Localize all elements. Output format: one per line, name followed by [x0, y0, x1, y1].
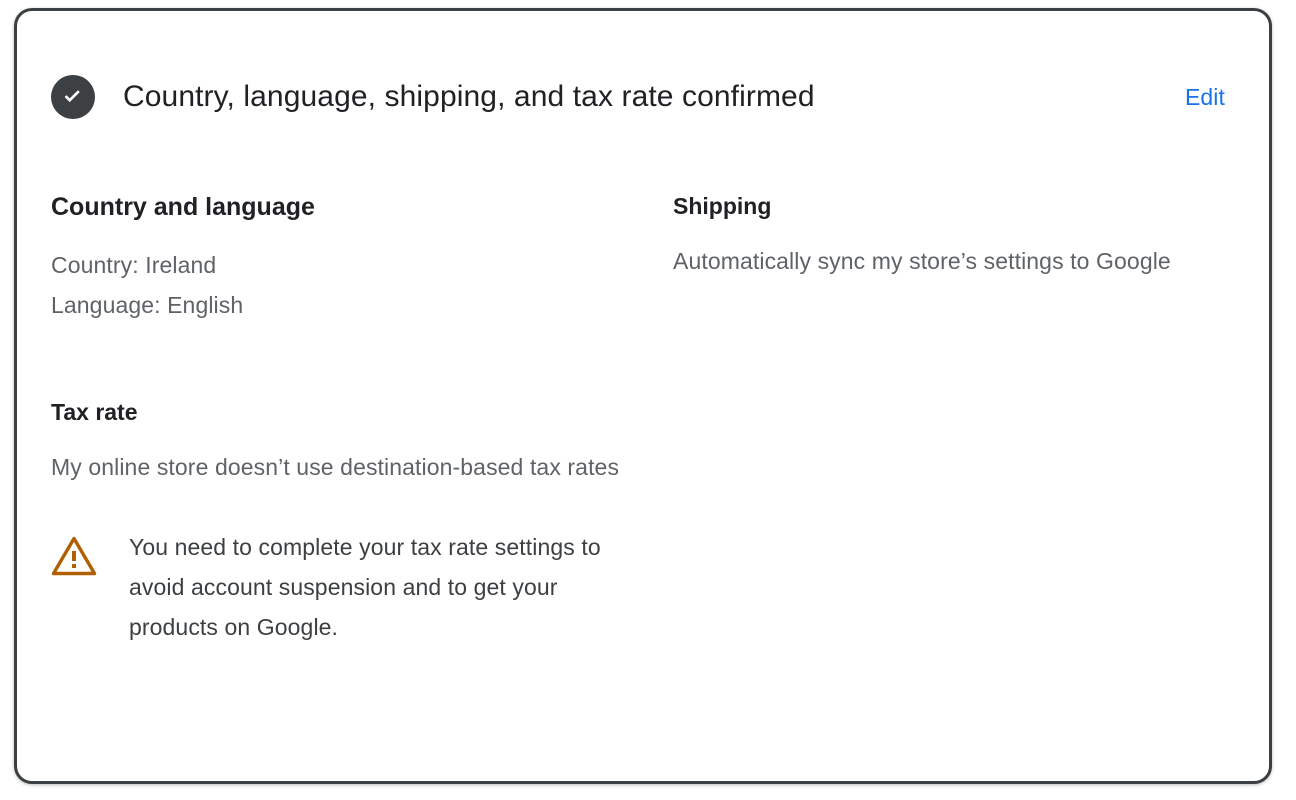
tax-rate-value: My online store doesn’t use destination-… [51, 447, 621, 487]
page-title: Country, language, shipping, and tax rat… [123, 78, 1185, 116]
language-value: Language: English [51, 285, 621, 325]
section-tax-rate: Tax rate My online store doesn’t use des… [51, 397, 621, 647]
card-header: Country, language, shipping, and tax rat… [17, 11, 1269, 131]
section-country-and-language: Country and language Country: Ireland La… [51, 191, 621, 325]
tax-rate-warning: You need to complete your tax rate setti… [51, 527, 621, 647]
section-spacer [51, 325, 621, 397]
card-body: Country and language Country: Ireland La… [51, 191, 1229, 761]
section-heading-tax-rate: Tax rate [51, 397, 621, 427]
section-heading-country-language: Country and language [51, 191, 621, 223]
left-column: Country and language Country: Ireland La… [51, 191, 621, 647]
confirmation-card: Country, language, shipping, and tax rat… [14, 8, 1272, 784]
screen: Country, language, shipping, and tax rat… [0, 0, 1296, 800]
section-shipping: Shipping Automatically sync my store’s s… [673, 191, 1233, 281]
right-column: Shipping Automatically sync my store’s s… [673, 191, 1233, 281]
warning-message: You need to complete your tax rate setti… [129, 527, 619, 647]
section-heading-shipping: Shipping [673, 191, 1233, 221]
country-value: Country: Ireland [51, 245, 621, 285]
check-circle-icon [51, 75, 95, 119]
warning-triangle-icon [51, 535, 97, 577]
shipping-value: Automatically sync my store’s settings t… [673, 241, 1233, 281]
edit-button[interactable]: Edit [1185, 83, 1225, 111]
